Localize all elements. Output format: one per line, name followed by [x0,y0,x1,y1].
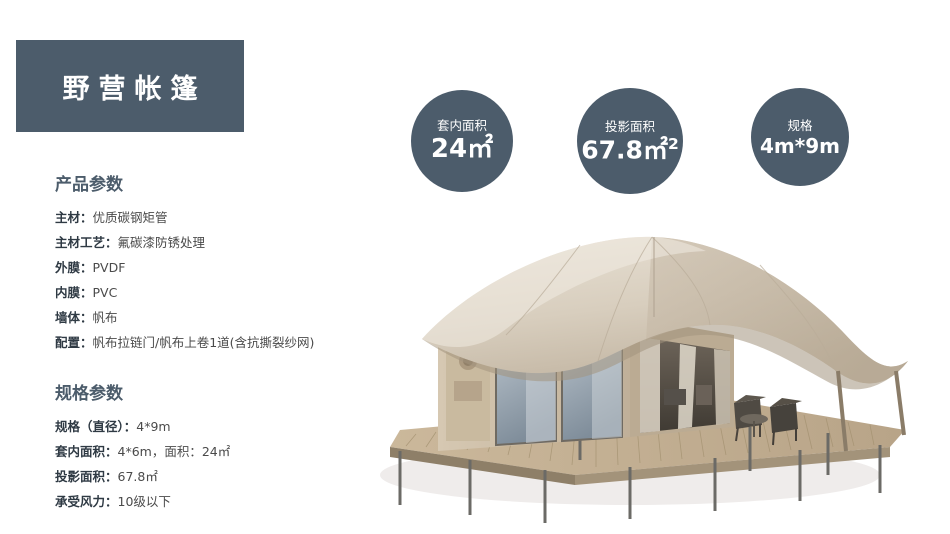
spec-value: 帆布 [93,310,118,325]
badge-label: 投影面积 [605,119,655,134]
spec-value: 4*6m，面积：24㎡ [118,444,231,459]
spec-key: 内膜： [55,285,93,300]
spec-value: 67.8㎡ [118,469,158,484]
badge-label: 规格 [787,118,812,133]
spec-key: 墙体： [55,310,93,325]
tent-illustration: 野 奢 隆 居 LUXURY TENT [330,175,950,534]
spec-key: 规格（直径）： [55,419,136,434]
spec-value: 氟碳漆防锈处理 [118,235,206,250]
spec-key: 配置： [55,335,93,350]
badge-value: 4m*9m [760,135,840,157]
spec-value: 帆布拉链门/帆布上卷1道(含抗撕裂纱网) [93,335,315,350]
badge-dimensions: 规格 4m*9m [751,88,849,186]
spec-value: PVC [93,285,118,300]
spec-value: 10级以下 [118,494,171,509]
badge-value: 67.8㎡2 [581,136,679,164]
badge-value: 24㎡ [431,135,493,164]
spec-key: 承受风力： [55,494,118,509]
tent-render-svg [330,175,950,534]
spec-key: 主材工艺： [55,235,118,250]
spec-value: 优质碳钢矩管 [93,210,168,225]
spec-value: PVDF [93,260,126,275]
spec-key: 投影面积： [55,469,118,484]
spec-key: 外膜： [55,260,93,275]
spec-key: 套内面积： [55,444,118,459]
spec-value: 4*9m [136,419,170,434]
spec-key: 主材： [55,210,93,225]
page-title-banner: 野营帐篷 [16,40,244,132]
badge-label: 套内面积 [437,118,487,133]
page-title: 野营帐篷 [54,67,207,106]
